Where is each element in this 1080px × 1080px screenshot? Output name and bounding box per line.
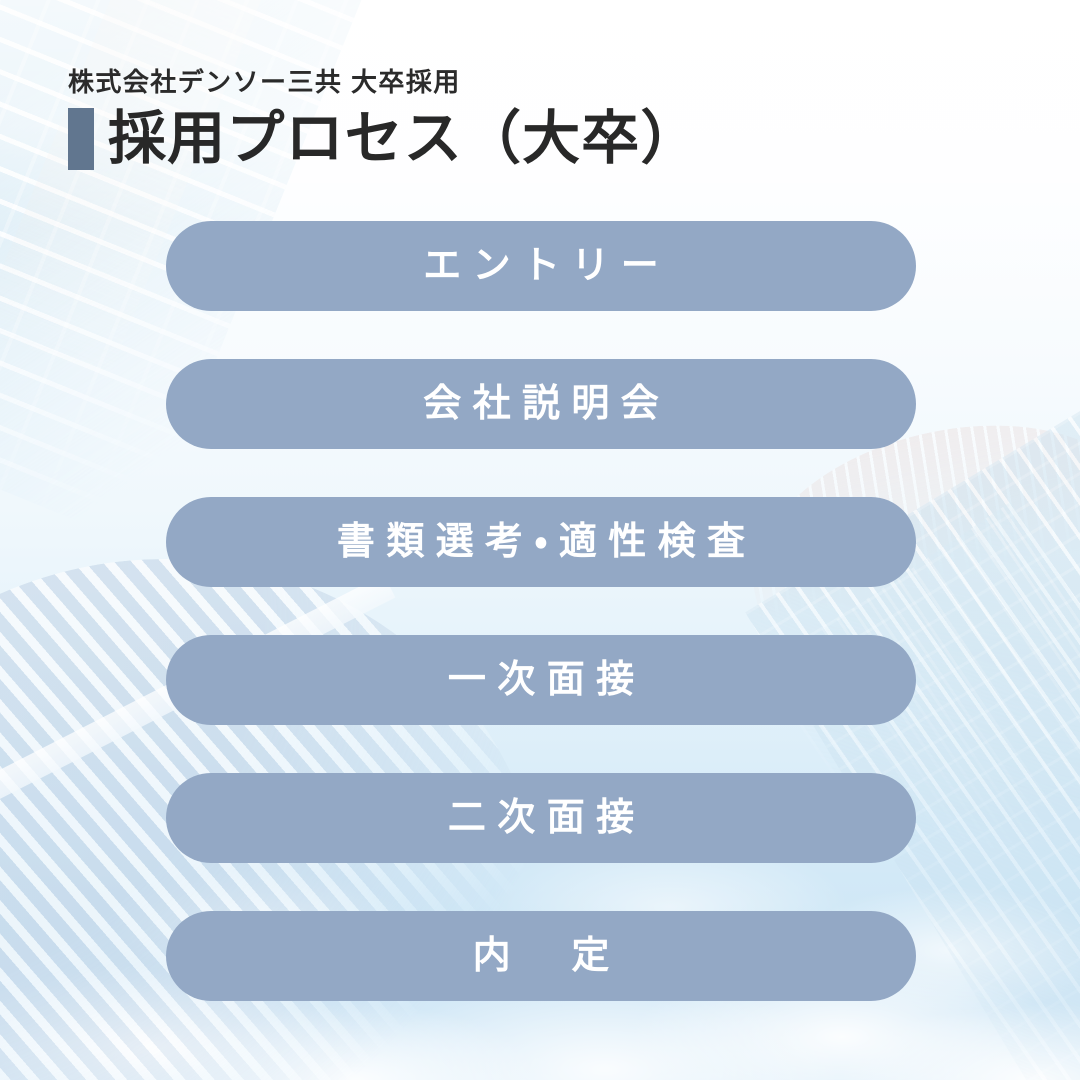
process-step-label: 二次面接 [437, 799, 646, 837]
process-step-6[interactable]: 内 定 [166, 911, 916, 1001]
process-step-3[interactable]: 書類選考・適性検査 [166, 497, 916, 587]
process-step-label: 内 定 [461, 937, 621, 975]
process-step-5[interactable]: 二次面接 [166, 773, 916, 863]
poster-content: 株式会社デンソー三共 大卒採用 採用プロセス（大卒） エントリー 会社説明会 書… [0, 0, 1080, 1080]
company-eyebrow: 株式会社デンソー三共 大卒採用 [68, 62, 461, 99]
page-title: 採用プロセス（大卒） [68, 108, 700, 170]
process-step-label: 一次面接 [437, 661, 646, 699]
recruitment-process-poster: 株式会社デンソー三共 大卒採用 採用プロセス（大卒） エントリー 会社説明会 書… [0, 0, 1080, 1080]
process-step-4[interactable]: 一次面接 [166, 635, 916, 725]
title-accent-bar [68, 108, 94, 170]
process-step-2[interactable]: 会社説明会 [166, 359, 916, 449]
process-step-label: エントリー [412, 247, 670, 285]
process-step-label: 会社説明会 [412, 385, 670, 423]
process-step-list: エントリー 会社説明会 書類選考・適性検査 一次面接 二次面接 内 定 [166, 221, 916, 1001]
page-title-text: 採用プロセス（大卒） [108, 110, 700, 168]
process-step-1[interactable]: エントリー [166, 221, 916, 311]
process-step-label: 書類選考・適性検査 [326, 523, 757, 561]
